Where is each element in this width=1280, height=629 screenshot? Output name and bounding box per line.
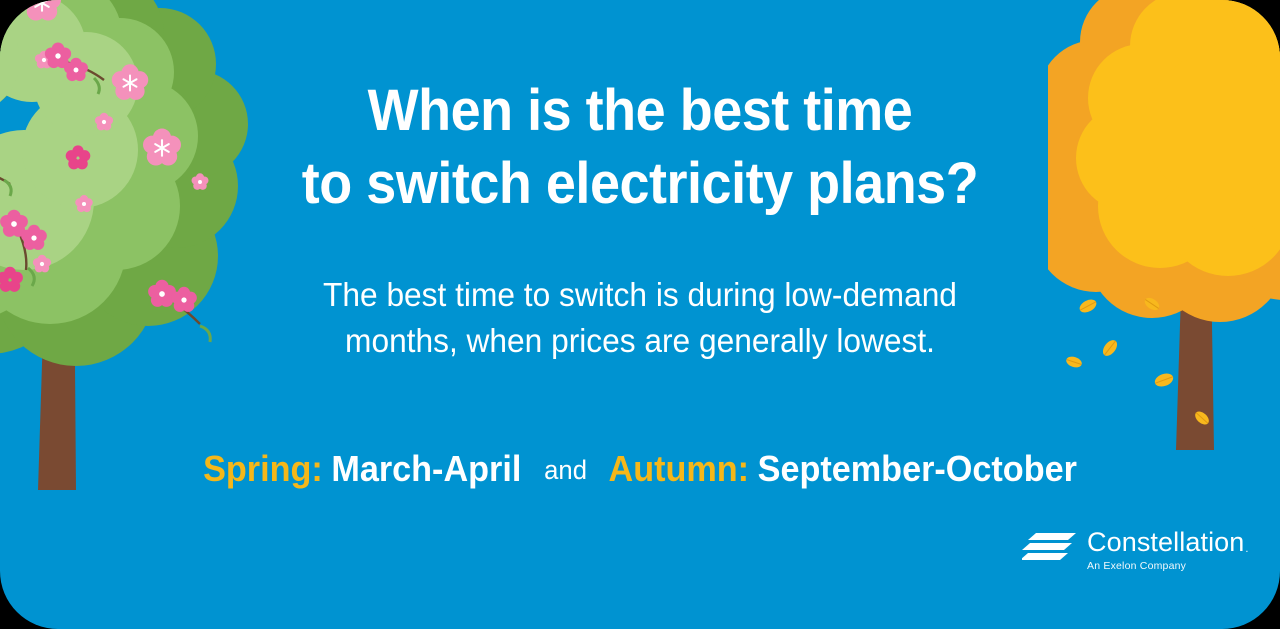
falling-leaves — [1060, 290, 1240, 430]
logo-text-group: Constellation. An Exelon Company — [1087, 527, 1248, 572]
logo-registered-mark: . — [1245, 543, 1248, 555]
falling-leaf — [1065, 355, 1083, 369]
autumn-label: Autumn: — [609, 448, 750, 489]
constellation-logo[interactable]: Constellation. An Exelon Company — [1022, 527, 1248, 572]
spring-value: March-April — [331, 448, 521, 489]
constellation-bars-mark — [1022, 530, 1078, 564]
infographic-banner: When is the best time to switch electric… — [0, 0, 1280, 629]
falling-leaf — [1153, 371, 1175, 389]
logo-tagline: An Exelon Company — [1087, 561, 1248, 572]
falling-leaf — [1193, 409, 1212, 427]
spring-cherry-blossom-tree — [0, 0, 268, 508]
logo-wordmark-text: Constellation — [1087, 527, 1244, 557]
falling-leaf — [1077, 297, 1098, 315]
falling-leaf — [1100, 338, 1120, 359]
logo-wordmark: Constellation. — [1087, 529, 1248, 556]
falling-leaf — [1143, 295, 1162, 312]
autumn-value: September-October — [758, 448, 1077, 489]
seasons-conjunction: and — [531, 455, 600, 485]
